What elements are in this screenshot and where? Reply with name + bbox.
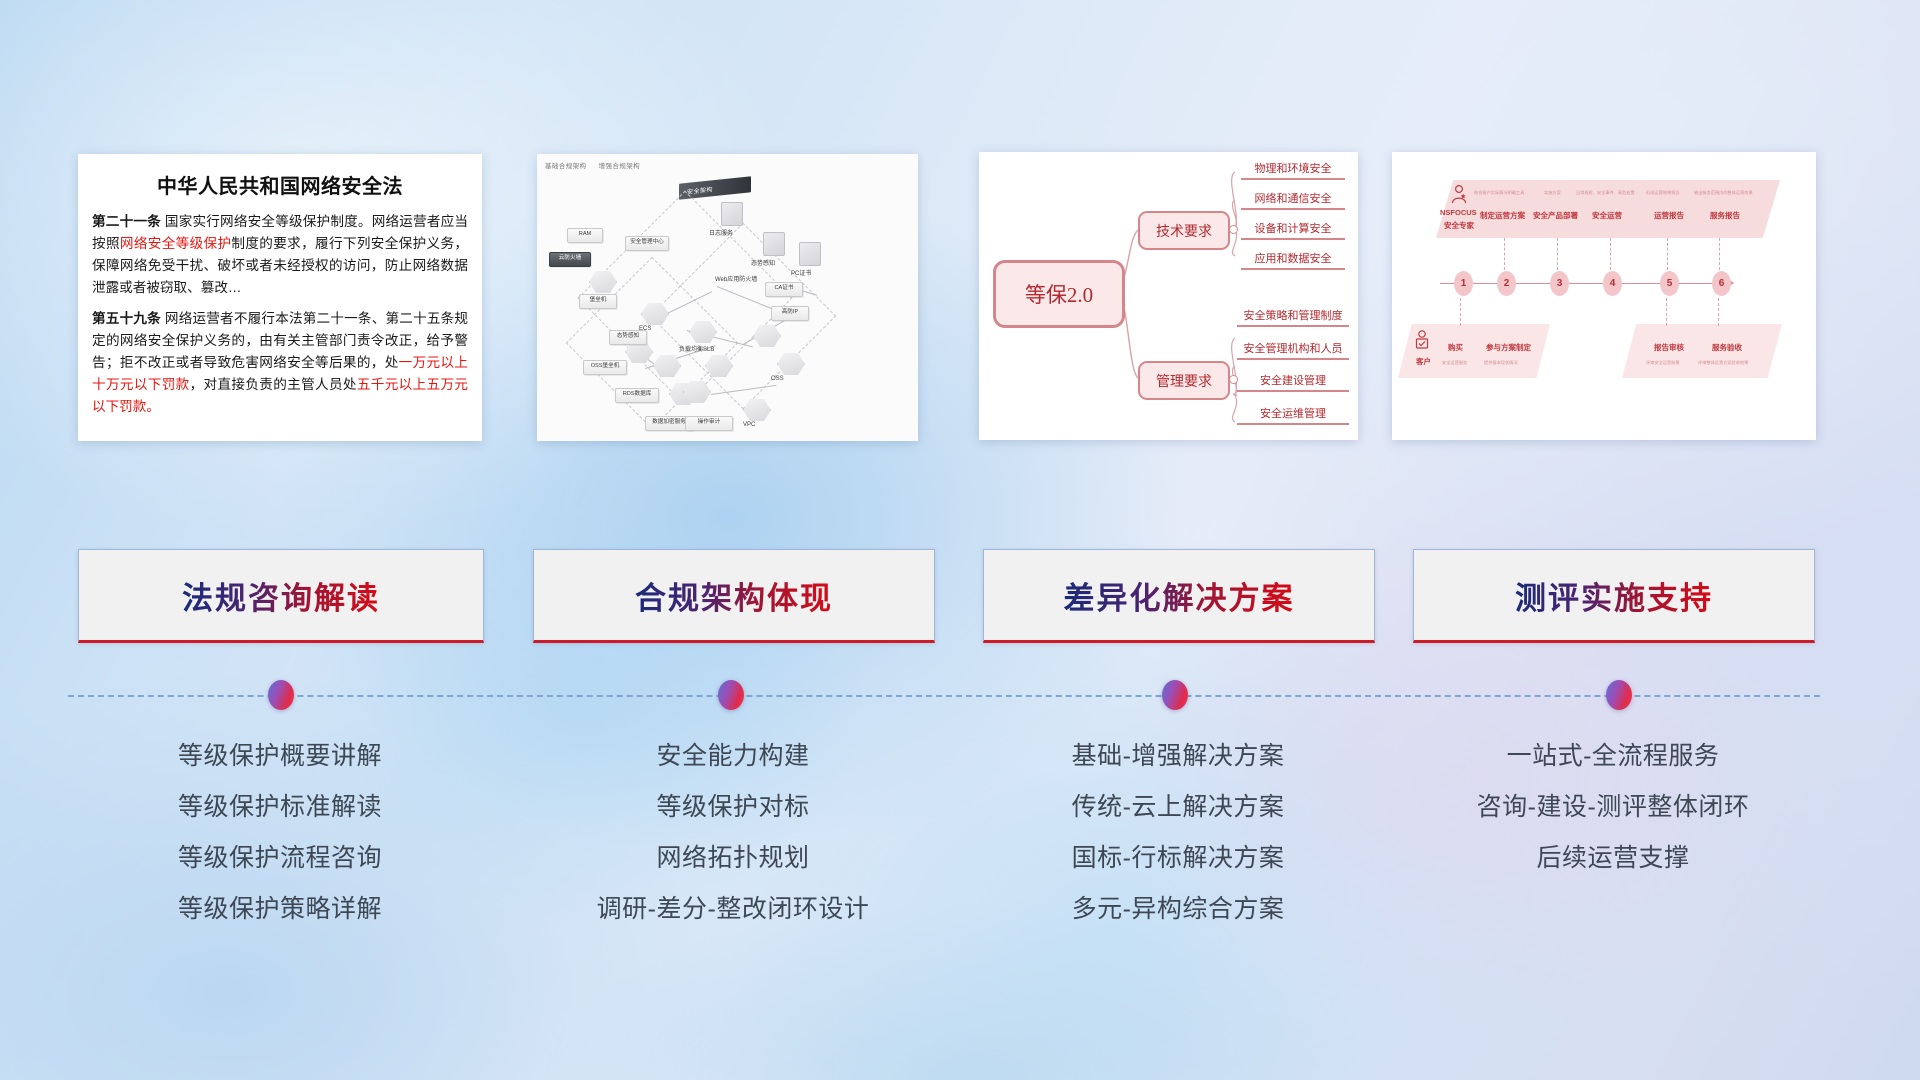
- list-item: 调研-差分-整改闭环设计: [533, 897, 933, 922]
- list-item: 传统-云上解决方案: [983, 795, 1373, 820]
- list-item: 一站式-全流程服务: [1403, 744, 1823, 769]
- list-item: 等级保护策略详解: [78, 897, 482, 922]
- detail-list-compliance-architecture: 安全能力构建 等级保护对标 网络拓扑规划 调研-差分-整改闭环设计: [533, 744, 933, 948]
- list-item: 等级保护对标: [533, 795, 933, 820]
- list-item: 安全能力构建: [533, 744, 933, 769]
- detail-list-row: 等级保护概要讲解 等级保护标准解读 等级保护流程咨询 等级保护策略详解 安全能力…: [0, 0, 1920, 1080]
- stage: 中华人民共和国网络安全法 第二十一条 国家实行网络安全等级保护制度。网络运营者应…: [0, 0, 1920, 1080]
- list-item: 国标-行标解决方案: [983, 846, 1373, 871]
- list-item: 后续运营支撑: [1403, 846, 1823, 871]
- list-item: 多元-异构综合方案: [983, 897, 1373, 922]
- detail-list-assessment-support: 一站式-全流程服务 咨询-建设-测评整体闭环 后续运营支撑: [1403, 744, 1823, 897]
- detail-list-regulation-consulting: 等级保护概要讲解 等级保护标准解读 等级保护流程咨询 等级保护策略详解: [78, 744, 482, 948]
- detail-list-differentiated-solution: 基础-增强解决方案 传统-云上解决方案 国标-行标解决方案 多元-异构综合方案: [983, 744, 1373, 948]
- list-item: 等级保护流程咨询: [78, 846, 482, 871]
- list-item: 咨询-建设-测评整体闭环: [1403, 795, 1823, 820]
- list-item: 基础-增强解决方案: [983, 744, 1373, 769]
- list-item: 等级保护概要讲解: [78, 744, 482, 769]
- list-item: 等级保护标准解读: [78, 795, 482, 820]
- list-item: 网络拓扑规划: [533, 846, 933, 871]
